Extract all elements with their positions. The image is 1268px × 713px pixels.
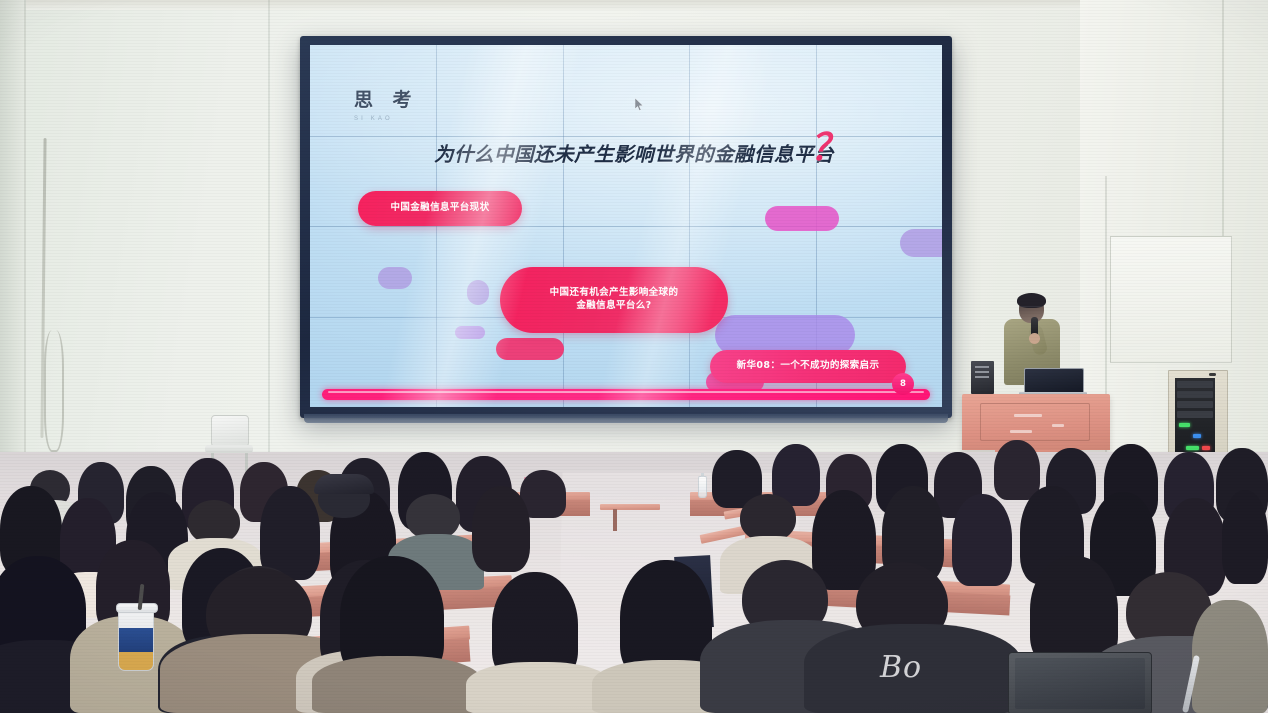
rack-led-green <box>1179 423 1190 427</box>
slide-pill-current-state: 中国金融信息平台现状 <box>358 191 522 226</box>
slide-main-question: 为什么中国还未产生影响世界的金融信息平台 <box>434 138 924 167</box>
rack-interior <box>1175 378 1215 456</box>
lectern-mark <box>1010 430 1032 433</box>
wall-left-shadow <box>0 0 26 470</box>
podium-laptop-screen <box>1024 368 1084 394</box>
rack-led-green <box>1186 446 1199 450</box>
video-wall-display: 思 考 si kao 为什么中国还未产生影响世界的金融信息平台 ？ 中国金融信息… <box>300 36 952 418</box>
slide-pill-opportunity-line1: 中国还有机会产生影响全球的 <box>550 287 679 300</box>
wall-board <box>1110 236 1232 363</box>
chair-seat <box>205 445 253 453</box>
decor-blob <box>900 229 942 257</box>
decor-blob <box>496 338 564 360</box>
water-bottle <box>698 476 707 498</box>
jersey-lettering: Bo <box>880 650 922 685</box>
slide-footer-bar <box>322 389 930 400</box>
baseball-cap <box>314 474 374 494</box>
slide-pill-opportunity: 中国还有机会产生影响全球的 金融信息平台么? <box>500 267 728 333</box>
rack-top-indicator <box>1209 373 1216 376</box>
chair-back <box>211 415 249 447</box>
small-table <box>600 504 660 510</box>
slide-pill-opportunity-line2: 金融信息平台么? <box>550 300 679 313</box>
slide-pill-xinhua08: 新华08：一个不成功的探索启示 <box>710 350 906 383</box>
rack-led-red <box>1202 446 1210 450</box>
presenter-glasses <box>1021 306 1042 311</box>
slide-page-number: 8 <box>892 373 914 395</box>
decor-blob <box>455 326 485 339</box>
decor-blob <box>715 315 855 355</box>
panel-seam-h <box>310 136 942 137</box>
presentation-slide: 思 考 si kao 为什么中国还未产生影响世界的金融信息平台 ？ 中国金融信息… <box>310 45 942 407</box>
panel-seam-h <box>310 226 942 227</box>
wall-corner <box>1222 0 1224 240</box>
question-mark-glyph: ？ <box>810 129 847 166</box>
lectern-mark <box>1052 424 1064 427</box>
desktop-tower <box>971 361 994 394</box>
slide-header: 思 考 si kao <box>354 85 418 122</box>
rack-slot <box>1177 381 1213 388</box>
rack-slot <box>1177 411 1213 418</box>
decor-blob <box>765 206 839 231</box>
rack-led-blue <box>1193 434 1201 438</box>
cable-loop <box>44 330 64 452</box>
lectern-panel <box>980 403 1090 441</box>
lecture-hall-scene: 思 考 si kao 为什么中国还未产生影响世界的金融信息平台 ？ 中国金融信息… <box>0 0 1268 713</box>
slide-header-title: 思 考 <box>354 85 418 112</box>
lectern-mark <box>1014 414 1042 417</box>
tablet-device <box>1008 652 1152 713</box>
decor-blob <box>378 267 412 289</box>
wall-seam <box>24 0 26 470</box>
drink-cup <box>118 607 154 671</box>
presenter-hand <box>1029 333 1040 344</box>
rack-slot <box>1177 401 1213 408</box>
slide-header-pinyin: si kao <box>354 116 418 122</box>
rack-slot <box>1177 391 1213 398</box>
cup-label-band <box>119 628 153 652</box>
table-leg <box>613 509 617 531</box>
av-equipment-rack <box>1168 370 1228 464</box>
mouse-pointer-icon <box>635 98 644 111</box>
wall-seam <box>268 0 270 470</box>
decor-blob <box>467 280 489 305</box>
tablet-screen <box>1015 658 1145 709</box>
lectern <box>962 394 1110 450</box>
ceiling-strip <box>0 0 1268 10</box>
